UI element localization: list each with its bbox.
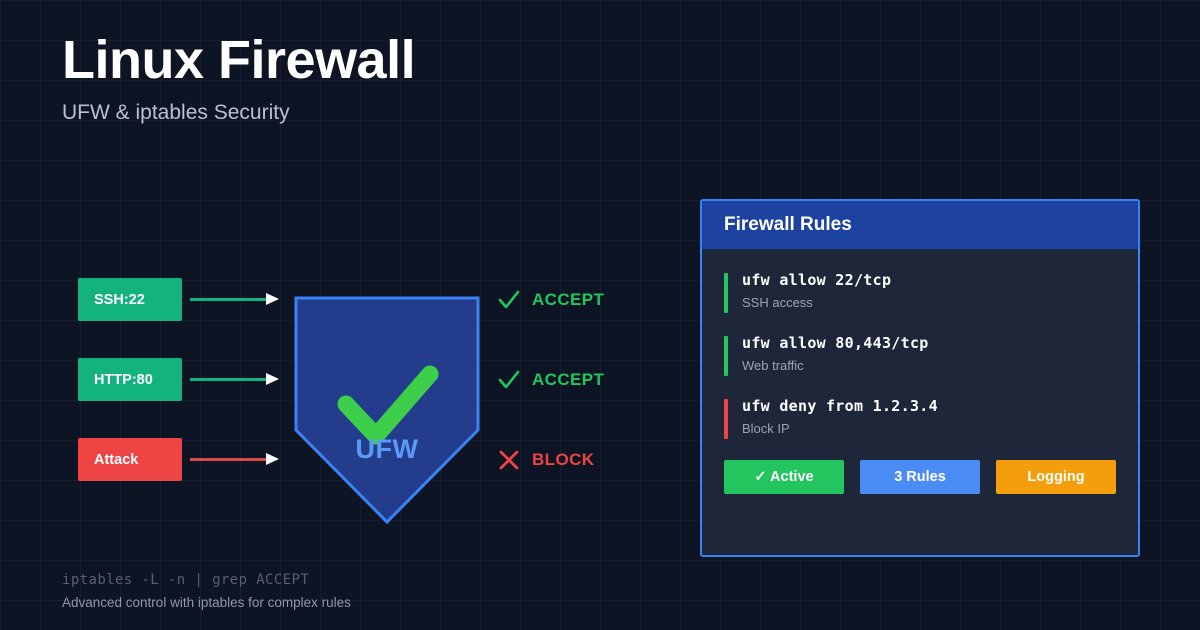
panel-header: Firewall Rules [702,201,1138,249]
rule-description: SSH access [742,295,1116,310]
traffic-source-http: HTTP:80 [78,358,182,401]
check-icon [497,288,521,312]
rule-accent-bar [724,336,728,376]
panel-body: ufw allow 22/tcp SSH access ufw allow 80… [702,249,1138,494]
rule-item[interactable]: ufw allow 80,443/tcp Web traffic [724,334,1116,373]
footer-command: iptables -L -n | grep ACCEPT [62,572,351,588]
shield-icon [294,296,480,524]
footer: iptables -L -n | grep ACCEPT Advanced co… [62,572,351,610]
rule-command: ufw allow 22/tcp [742,271,1116,289]
ufw-shield: UFW [294,296,480,524]
verdict-label: ACCEPT [532,370,604,390]
arrow-icon [190,293,286,305]
status-badge-active[interactable]: ✓ Active [724,460,844,494]
traffic-source-ssh: SSH:22 [78,278,182,321]
status-badge-rules[interactable]: 3 Rules [860,460,980,494]
shield-label: UFW [294,434,480,465]
verdict-accept: ACCEPT [497,368,604,392]
rule-command: ufw allow 80,443/tcp [742,334,1116,352]
rule-item[interactable]: ufw deny from 1.2.3.4 Block IP [724,397,1116,436]
verdict-label: ACCEPT [532,290,604,310]
rule-command: ufw deny from 1.2.3.4 [742,397,1116,415]
rule-accent-bar [724,273,728,313]
status-badges: ✓ Active 3 Rules Logging [724,460,1116,494]
rule-accent-bar [724,399,728,439]
rule-description: Web traffic [742,358,1116,373]
check-icon [497,368,521,392]
firewall-rules-panel: Firewall Rules ufw allow 22/tcp SSH acce… [700,199,1140,557]
traffic-flow-diagram: SSH:22 HTTP:80 Attack UFW ACCEPT ACCEPT [0,0,700,630]
arrow-icon [190,453,286,465]
arrow-icon [190,373,286,385]
verdict-label: BLOCK [532,450,594,470]
traffic-source-label: HTTP:80 [94,372,153,388]
rule-description: Block IP [742,421,1116,436]
rule-item[interactable]: ufw allow 22/tcp SSH access [724,271,1116,310]
traffic-source-label: Attack [94,452,138,468]
traffic-source-label: SSH:22 [94,292,145,308]
traffic-source-attack: Attack [78,438,182,481]
status-badge-logging[interactable]: Logging [996,460,1116,494]
verdict-accept: ACCEPT [497,288,604,312]
verdict-block: BLOCK [497,448,594,472]
footer-note: Advanced control with iptables for compl… [62,595,351,610]
panel-title: Firewall Rules [724,214,852,236]
cross-icon [497,448,521,472]
